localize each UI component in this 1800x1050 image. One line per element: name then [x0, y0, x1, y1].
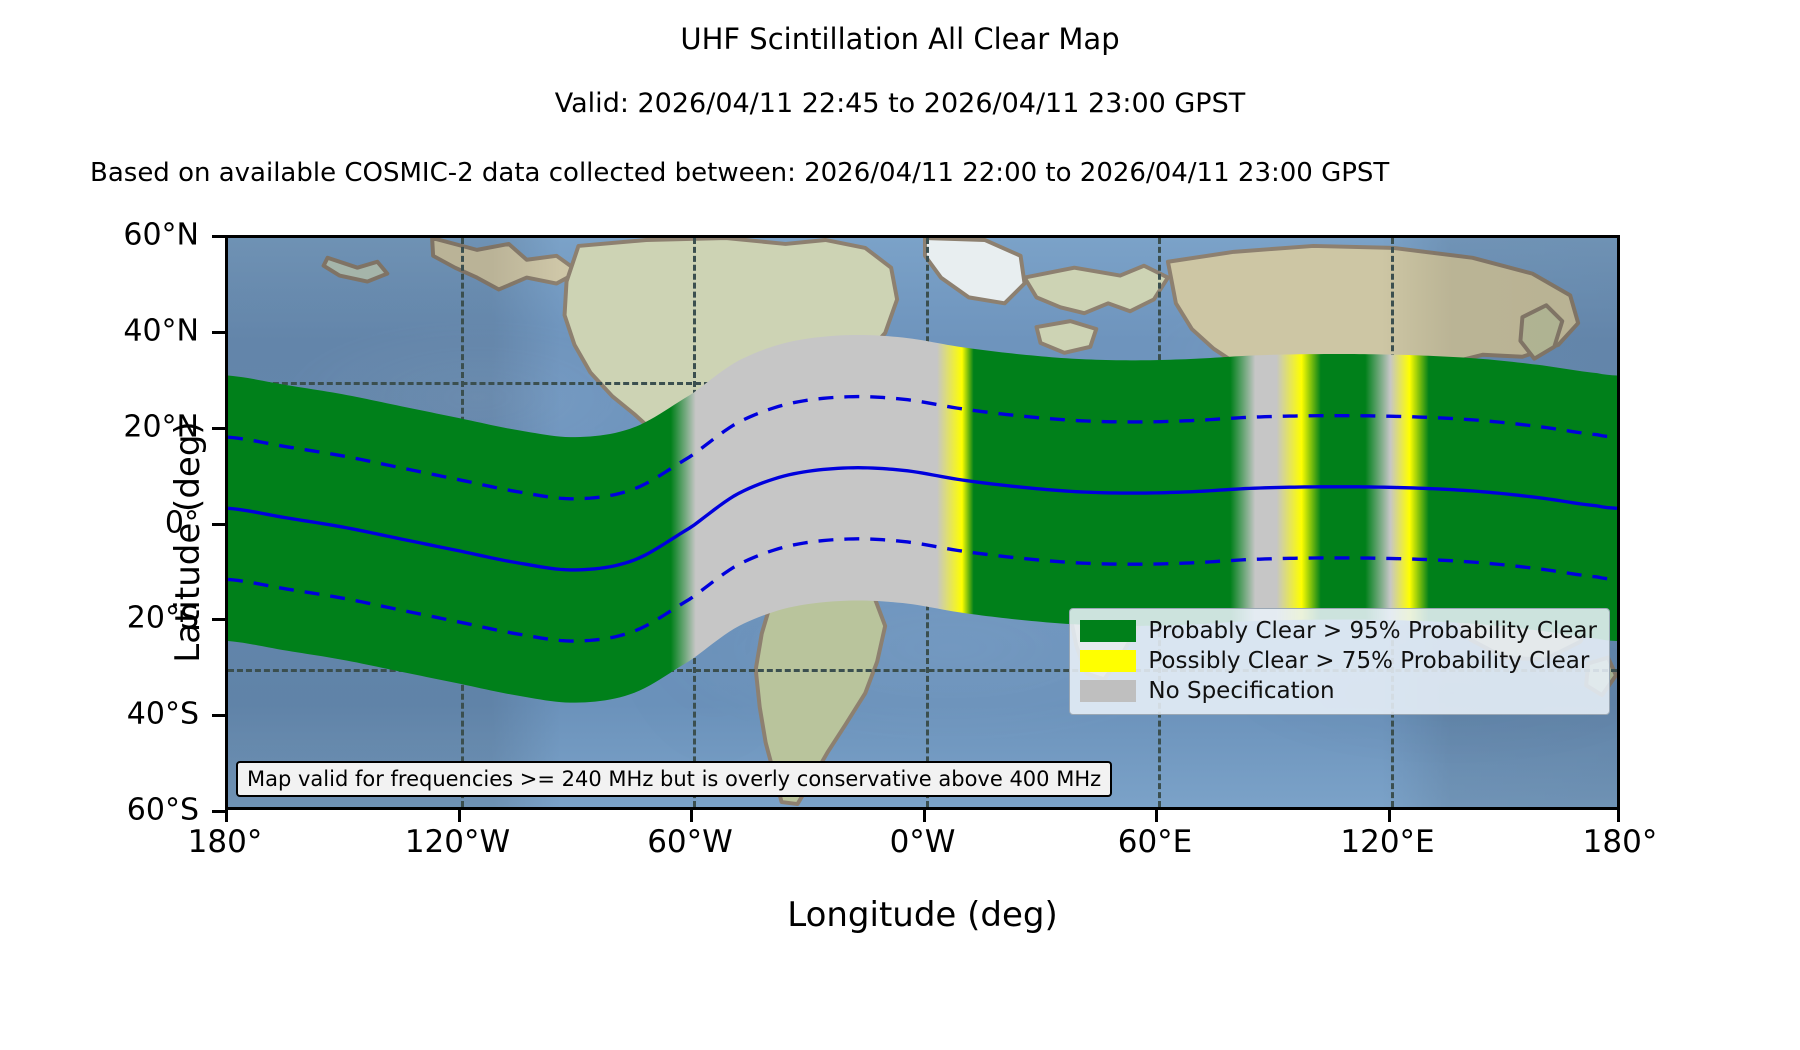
page-title: UHF Scintillation All Clear Map [0, 22, 1800, 56]
frequency-validity-text: Map valid for frequencies >= 240 MHz but… [247, 767, 1101, 791]
scintillation-map-figure: UHF Scintillation All Clear Map Valid: 2… [0, 0, 1800, 1050]
x-tick-mark [923, 810, 926, 822]
legend-label-no-specification: No Specification [1148, 678, 1334, 704]
data-source-subtitle: Based on available COSMIC-2 data collect… [90, 158, 1389, 188]
map-plot-area[interactable]: Probably Clear > 95% Probability Clear P… [225, 235, 1620, 810]
legend-swatch-no-specification [1080, 680, 1136, 702]
x-axis-label: Longitude (deg) [225, 895, 1620, 935]
x-tick-label: 60°E [1118, 824, 1193, 860]
validity-subtitle: Valid: 2026/04/11 22:45 to 2026/04/11 23… [0, 88, 1800, 119]
scintillation-band-overlay [228, 238, 1617, 807]
legend-swatch-probably-clear [1080, 620, 1136, 642]
legend-item: Possibly Clear > 75% Probability Clear [1080, 646, 1597, 676]
map-legend: Probably Clear > 95% Probability Clear P… [1069, 608, 1610, 715]
x-tick-label: 120°E [1340, 824, 1434, 860]
frequency-validity-note: Map valid for frequencies >= 240 MHz but… [236, 761, 1112, 797]
x-tick-label: 180° [188, 824, 263, 860]
y-tick-mark [212, 235, 225, 238]
x-tick-mark [458, 810, 461, 822]
legend-label-probably-clear: Probably Clear > 95% Probability Clear [1148, 618, 1597, 644]
y-tick-label: 40°N [123, 313, 199, 348]
y-tick-label: 0° [165, 505, 199, 540]
legend-label-possibly-clear: Possibly Clear > 75% Probability Clear [1148, 648, 1589, 674]
legend-item: No Specification [1080, 676, 1597, 706]
x-tick-label: 180° [1583, 824, 1658, 860]
x-tick-label: 120°W [405, 824, 510, 860]
legend-swatch-possibly-clear [1080, 650, 1136, 672]
x-tick-mark [225, 810, 228, 822]
y-tick-mark [212, 427, 225, 430]
x-tick-mark [1617, 810, 1620, 822]
y-tick-mark [212, 618, 225, 621]
x-tick-mark [1155, 810, 1158, 822]
y-tick-label: 20°N [123, 409, 199, 444]
y-tick-mark [212, 810, 225, 813]
y-tick-label: 40°S [127, 697, 199, 732]
x-tick-mark [1388, 810, 1391, 822]
x-axis-ticks: 180°120°W60°W0°W60°E120°E180° [225, 810, 1620, 880]
x-tick-label: 0°W [890, 824, 956, 860]
y-tick-mark [212, 523, 225, 526]
y-tick-mark [212, 714, 225, 717]
y-axis-ticks: 60°N40°N20°N0°20°S40°S60°S [0, 235, 225, 810]
x-tick-mark [690, 810, 693, 822]
y-tick-label: 20°S [127, 601, 199, 636]
y-tick-label: 60°N [123, 218, 199, 253]
y-tick-mark [212, 331, 225, 334]
y-tick-label: 60°S [127, 793, 199, 828]
legend-item: Probably Clear > 95% Probability Clear [1080, 616, 1597, 646]
x-tick-label: 60°W [647, 824, 733, 860]
